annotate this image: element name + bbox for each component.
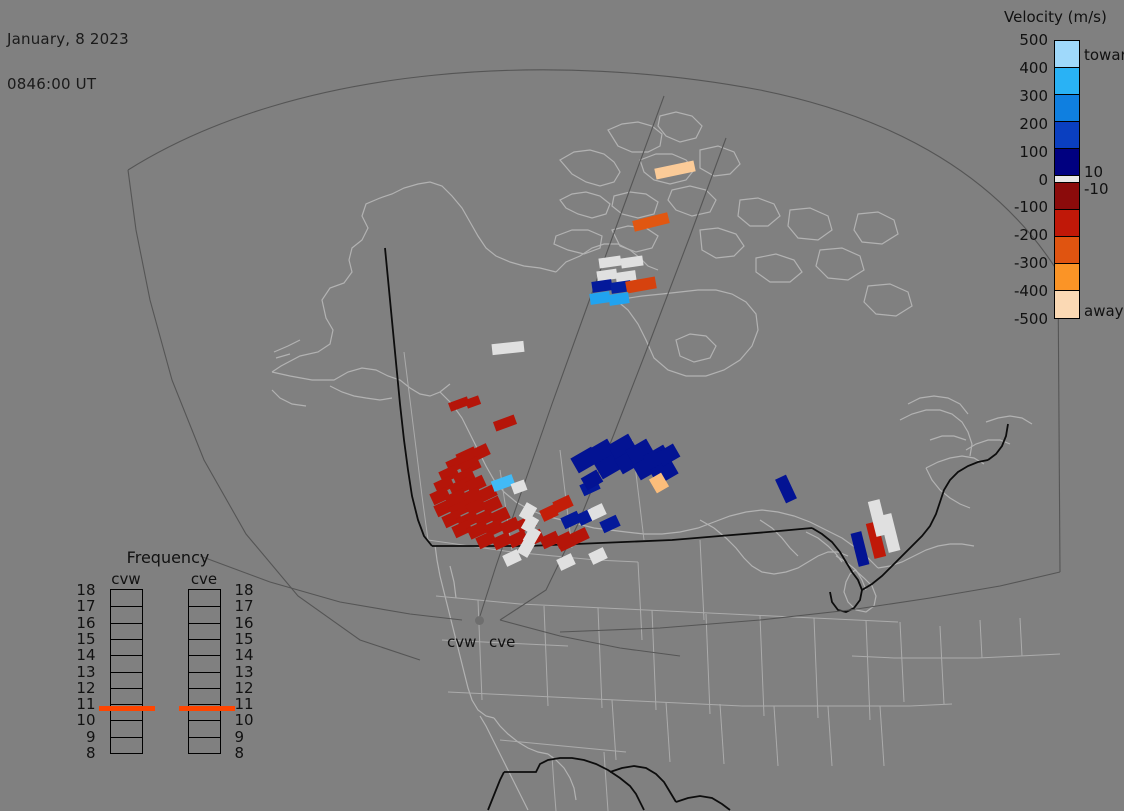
colorbar-segment-6 <box>1055 183 1079 210</box>
colorbar-tick-0: 0 <box>1038 171 1048 189</box>
frequency-rung <box>111 639 142 640</box>
colorbar-segment-2 <box>1055 95 1079 122</box>
frequency-title: Frequency <box>88 548 248 567</box>
frequency-column-cve: cve 18171615141312111098 <box>174 570 234 754</box>
velocity-colorbar: Velocity (m/s) 5004003002001000-100-200-… <box>1004 8 1124 326</box>
frequency-tick-cve-14: 14 <box>235 646 261 664</box>
frequency-rung <box>189 623 220 624</box>
velocity-cell <box>654 160 695 179</box>
frequency-rung <box>189 639 220 640</box>
frequency-rung <box>189 672 220 673</box>
frequency-rung <box>111 606 142 607</box>
frequency-rung <box>189 704 220 705</box>
frequency-rung <box>111 737 142 738</box>
frequency-tick-cvw-10: 10 <box>70 711 96 729</box>
frequency-rung <box>189 737 220 738</box>
frequency-bar-cvw: 18171615141312111098 <box>110 589 143 754</box>
colorbar-gs-lower-label: -10 <box>1084 180 1109 198</box>
frequency-tick-cvw-18: 18 <box>70 581 96 599</box>
frequency-tick-cvw-11: 11 <box>70 695 96 713</box>
velocity-cell <box>588 547 608 565</box>
colorbar-tick-400: 400 <box>1019 59 1048 77</box>
colorbar-tick-neg500: -500 <box>1014 310 1048 328</box>
frequency-rung <box>111 720 142 721</box>
frequency-rung <box>111 688 142 689</box>
frequency-tick-cve-15: 15 <box>235 630 261 648</box>
colorbar-tick-100: 100 <box>1019 143 1048 161</box>
velocity-cell <box>560 511 581 529</box>
colorbar-tick-neg300: -300 <box>1014 254 1048 272</box>
frequency-tick-cve-13: 13 <box>235 663 261 681</box>
site-label-cve: cve <box>489 633 515 651</box>
frequency-rung <box>189 655 220 656</box>
colorbar-segment-5 <box>1055 176 1079 183</box>
colorbar-segment-10 <box>1055 291 1079 318</box>
velocity-cell <box>556 553 576 571</box>
colorbar-title: Velocity (m/s) <box>1004 8 1124 26</box>
frequency-rung <box>189 688 220 689</box>
colorbar-gradient <box>1054 40 1080 319</box>
frequency-tick-cvw-13: 13 <box>70 663 96 681</box>
velocity-cell <box>598 256 621 269</box>
frequency-column-label-cve: cve <box>174 570 234 589</box>
frequency-rung <box>111 623 142 624</box>
colorbar-segment-0 <box>1055 41 1079 68</box>
velocity-cell <box>596 269 617 282</box>
colorbar-segment-8 <box>1055 237 1079 264</box>
site-label-cvw: cvw <box>447 633 476 651</box>
frequency-bar-cve: 18171615141312111098 <box>188 589 221 754</box>
radar-site-marker <box>475 616 484 625</box>
frequency-tick-cvw-12: 12 <box>70 679 96 697</box>
frequency-rung <box>111 704 142 705</box>
frequency-marker-cve <box>179 706 235 711</box>
frequency-tick-cve-16: 16 <box>235 614 261 632</box>
frequency-tick-cvw-8: 8 <box>70 744 96 762</box>
frequency-rung <box>189 720 220 721</box>
frequency-tick-cvw-17: 17 <box>70 597 96 615</box>
colorbar-away-label: away <box>1084 302 1124 320</box>
colorbar-tick-neg400: -400 <box>1014 282 1048 300</box>
colorbar-segment-3 <box>1055 122 1079 149</box>
frequency-tick-cvw-9: 9 <box>70 728 96 746</box>
frequency-legend: Frequency cvw 18171615141312111098 cve 1… <box>88 548 248 788</box>
colorbar-segment-1 <box>1055 68 1079 95</box>
colorbar-tick-neg100: -100 <box>1014 198 1048 216</box>
frequency-tick-cve-11: 11 <box>235 695 261 713</box>
frequency-tick-cve-9: 9 <box>235 728 261 746</box>
colorbar-segment-4 <box>1055 149 1079 176</box>
frequency-rung <box>111 672 142 673</box>
frequency-tick-cve-8: 8 <box>235 744 261 762</box>
velocity-cell <box>591 279 612 293</box>
frequency-column-label-cvw: cvw <box>96 570 156 589</box>
frequency-tick-cve-18: 18 <box>235 581 261 599</box>
velocity-cell <box>465 395 481 408</box>
colorbar-tick-200: 200 <box>1019 115 1048 133</box>
frequency-rung <box>111 655 142 656</box>
colorbar-tick-neg200: -200 <box>1014 226 1048 244</box>
velocity-cell <box>851 531 870 567</box>
frequency-tick-cvw-15: 15 <box>70 630 96 648</box>
velocity-cell <box>492 341 525 355</box>
visualization-canvas: January, 8 2023 0846:00 UT <box>0 0 1124 811</box>
velocity-cell <box>775 475 797 504</box>
colorbar-gs-upper-label: 10 <box>1084 163 1103 181</box>
colorbar-segment-7 <box>1055 210 1079 237</box>
velocity-cell <box>493 415 517 432</box>
frequency-tick-cvw-16: 16 <box>70 614 96 632</box>
frequency-rung <box>189 606 220 607</box>
velocity-cell <box>620 256 643 269</box>
frequency-tick-cvw-14: 14 <box>70 646 96 664</box>
frequency-tick-cve-10: 10 <box>235 711 261 729</box>
velocity-cell <box>589 291 610 305</box>
colorbar-tick-300: 300 <box>1019 87 1048 105</box>
colorbar-tick-500: 500 <box>1019 31 1048 49</box>
colorbar-toward-label: toward <box>1084 46 1124 64</box>
colorbar-segment-9 <box>1055 264 1079 291</box>
frequency-column-cvw: cvw 18171615141312111098 <box>96 570 156 754</box>
frequency-tick-cve-12: 12 <box>235 679 261 697</box>
frequency-marker-cvw <box>99 706 155 711</box>
fov-boundary <box>128 70 1060 660</box>
velocity-cell <box>608 292 629 306</box>
frequency-tick-cve-17: 17 <box>235 597 261 615</box>
